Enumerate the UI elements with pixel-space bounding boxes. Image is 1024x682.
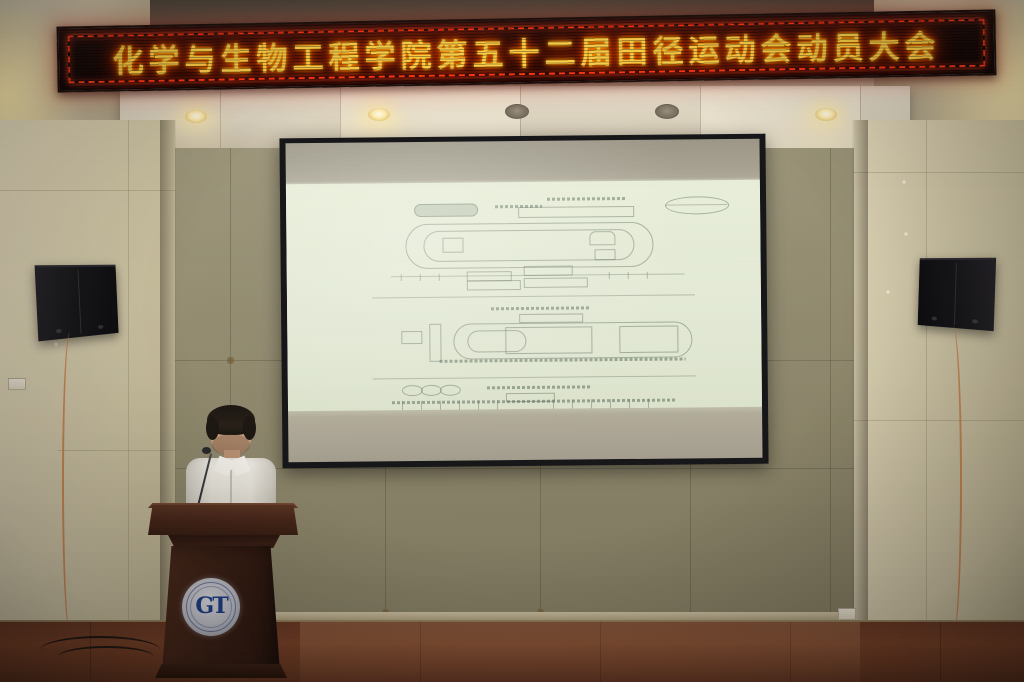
downlight-3 (505, 104, 529, 119)
projection-screen-surface (285, 139, 762, 463)
wall-outlet-right (838, 608, 856, 620)
speaker-cable-right (944, 326, 962, 636)
floor-cable-2 (58, 646, 154, 668)
projected-image-area (286, 180, 762, 411)
side-wall-left (0, 120, 175, 635)
pillar-shadow-right (852, 120, 868, 635)
podium-base (155, 664, 287, 678)
wall-outlet-left (8, 378, 26, 390)
auditorium-photo: 化学与生物工程学院第五十二届田径运动会动员大会 (0, 0, 1024, 682)
emblem-mark: GT (195, 593, 226, 619)
downlight-5 (815, 108, 837, 121)
microphone-head (202, 447, 211, 454)
side-wall-right (854, 120, 1024, 635)
projection-screen (279, 134, 768, 469)
speaker-cable-left (62, 332, 78, 632)
led-banner-text: 化学与生物工程学院第五十二届田径运动会动员大会 (59, 20, 995, 82)
wall-speaker-left (35, 265, 119, 342)
downlight-2 (368, 108, 390, 121)
wall-speaker-right (918, 258, 996, 331)
downlight-4 (655, 104, 679, 119)
downlight-1 (185, 110, 207, 123)
university-emblem: GT (182, 578, 240, 636)
podium-top (148, 505, 298, 535)
